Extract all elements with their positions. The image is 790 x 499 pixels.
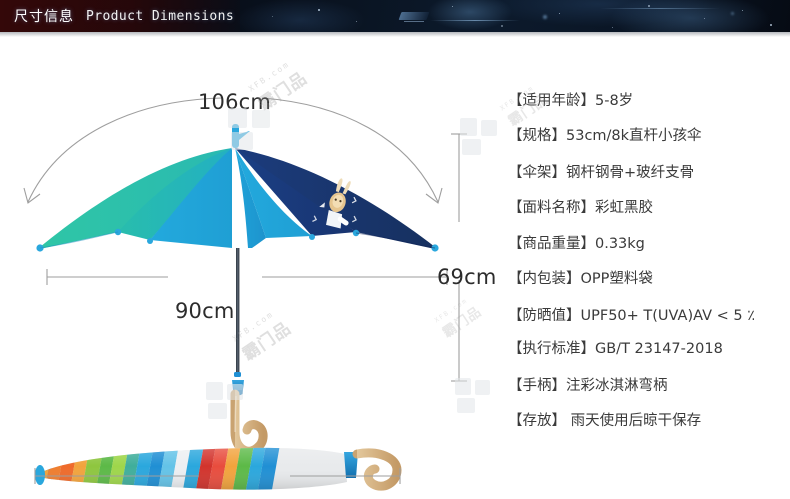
folded-umbrella <box>0 441 397 497</box>
page-header-banner: 尺寸信息 Product Dimensions <box>0 0 790 32</box>
spec-item-standard: 【执行标准】GB/T 23147-2018 <box>508 340 790 358</box>
banner-emblem <box>399 12 430 20</box>
umbrella-diagram: 106cm 90cm 69cm 69cm <box>0 36 480 499</box>
spec-item-fabric: 【面料名称】彩虹黑胶 <box>508 199 790 217</box>
banner-star <box>272 16 273 17</box>
dimension-label-69cm-height: 69cm <box>437 265 497 289</box>
banner-star <box>770 24 772 26</box>
spec-item-age: 【适用年龄】5-8岁 <box>508 92 790 110</box>
dimension-90 <box>47 269 447 285</box>
umbrella-canopy <box>36 124 438 252</box>
banner-title-en: Product Dimensions <box>86 9 234 24</box>
spec-item-size: 【规格】53cm/8k直杆小孩伞 <box>508 127 790 145</box>
banner-star-glow <box>731 12 734 15</box>
specification-list: 【适用年龄】5-8岁 【规格】53cm/8k直杆小孩伞 【伞架】钢杆钢骨+玻纤支… <box>508 92 790 430</box>
spec-item-weight: 【商品重量】0.33kg <box>508 235 790 253</box>
banner-emblem-underline <box>404 21 424 22</box>
banner-star <box>501 25 503 27</box>
banner-star <box>452 6 453 7</box>
banner-star <box>612 27 613 28</box>
banner-title-group: 尺寸信息 Product Dimensions <box>0 0 234 32</box>
arc-dimension-arrowheads <box>24 188 442 203</box>
spec-item-storage: 【存放】 雨天使用后晾干保存 <box>508 412 790 430</box>
banner-light-streak <box>430 20 520 21</box>
banner-star-glow <box>543 15 547 19</box>
banner-star <box>704 18 705 19</box>
dimension-label-106cm: 106cm <box>198 90 271 114</box>
banner-star <box>559 13 560 14</box>
banner-light-streak <box>600 8 720 9</box>
dimension-label-90cm: 90cm <box>175 299 235 323</box>
spec-item-upf: 【防晒值】UPF50+ T(UVA)AV < 5 ٪ <box>508 307 790 325</box>
folded-umbrella-stripes <box>0 441 356 497</box>
banner-title-cn: 尺寸信息 <box>14 6 74 26</box>
product-dimensions-page: 尺寸信息 Product Dimensions <box>0 0 790 499</box>
banner-star <box>356 21 357 22</box>
dimension-69-height <box>451 134 467 381</box>
spec-item-handle: 【手柄】注彩冰淇淋弯柄 <box>508 377 790 395</box>
spec-item-packaging: 【内包装】OPP塑料袋 <box>508 270 790 288</box>
banner-star <box>318 9 320 11</box>
umbrella-shaft-and-handle <box>232 248 263 451</box>
banner-star <box>648 5 650 7</box>
banner-star <box>742 10 743 11</box>
spec-item-frame: 【伞架】钢杆钢骨+玻纤支骨 <box>508 164 790 182</box>
